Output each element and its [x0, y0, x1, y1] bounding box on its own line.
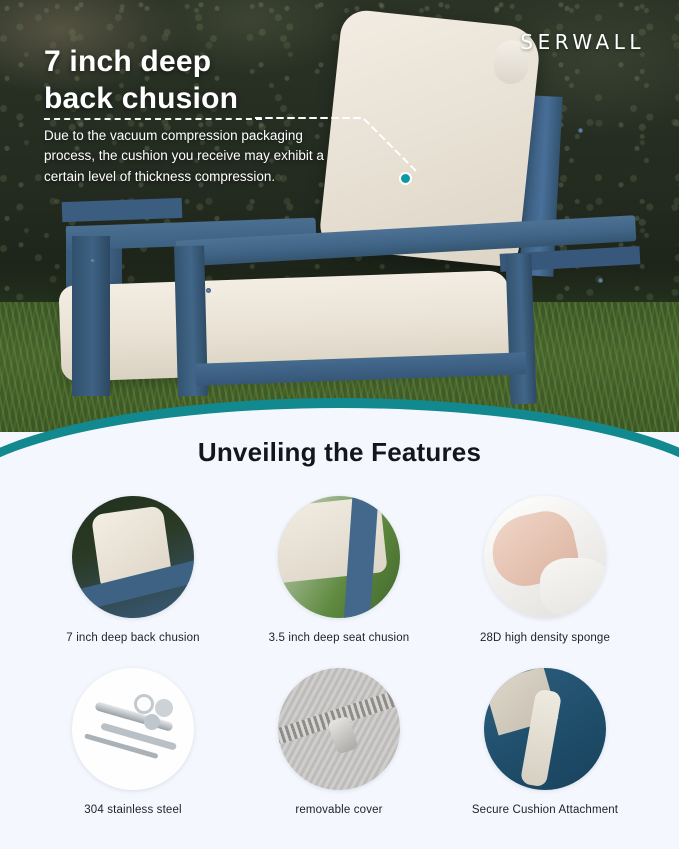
- hero-divider: [44, 118, 262, 120]
- feature-caption: 304 stainless steel: [84, 804, 181, 816]
- feature-caption: 7 inch deep back chusion: [66, 632, 199, 644]
- hero-title: 7 inch deep back chusion: [44, 44, 374, 117]
- features-grid: 7 inch deep back chusion 3.5 inch deep s…: [30, 496, 649, 816]
- feature-caption: 28D high density sponge: [480, 632, 610, 644]
- feature-thumbnail-seat-cushion: [278, 496, 400, 618]
- chair-screw: [90, 258, 95, 263]
- hero-banner: SERWALL 7 inch deep back chusion Due to …: [0, 0, 679, 432]
- serwall-logo: SERWALL: [520, 30, 645, 54]
- feature-item[interactable]: 28D high density sponge: [442, 496, 648, 644]
- feature-thumbnail-stainless-steel: [72, 668, 194, 790]
- feature-thumbnail-attachment: [484, 668, 606, 790]
- features-row-2: 304 stainless steel removable cover Secu…: [30, 668, 649, 816]
- feature-thumbnail-sponge: [484, 496, 606, 618]
- feature-thumbnail-back-cushion: [72, 496, 194, 618]
- feature-item[interactable]: 7 inch deep back chusion: [30, 496, 236, 644]
- feature-item[interactable]: 304 stainless steel: [30, 668, 236, 816]
- feature-thumbnail-zipper: [278, 668, 400, 790]
- feature-item[interactable]: Secure Cushion Attachment: [442, 668, 648, 816]
- callout-dot: [399, 172, 412, 185]
- feature-caption: removable cover: [295, 804, 382, 816]
- chair-screw: [206, 288, 211, 293]
- chair-screw: [578, 128, 583, 133]
- product-feature-page: SERWALL 7 inch deep back chusion Due to …: [0, 0, 679, 849]
- feature-item[interactable]: removable cover: [236, 668, 442, 816]
- chair-screw: [598, 278, 603, 283]
- feature-item[interactable]: 3.5 inch deep seat chusion: [236, 496, 442, 644]
- hero-description: Due to the vacuum compression packaging …: [44, 126, 324, 187]
- features-title: Unveiling the Features: [0, 437, 679, 468]
- feature-caption: 3.5 inch deep seat chusion: [269, 632, 410, 644]
- feature-caption: Secure Cushion Attachment: [472, 804, 618, 816]
- chair-front-right-leg: [505, 254, 536, 405]
- features-row-1: 7 inch deep back chusion 3.5 inch deep s…: [30, 496, 649, 644]
- chair-back-rail: [62, 198, 183, 222]
